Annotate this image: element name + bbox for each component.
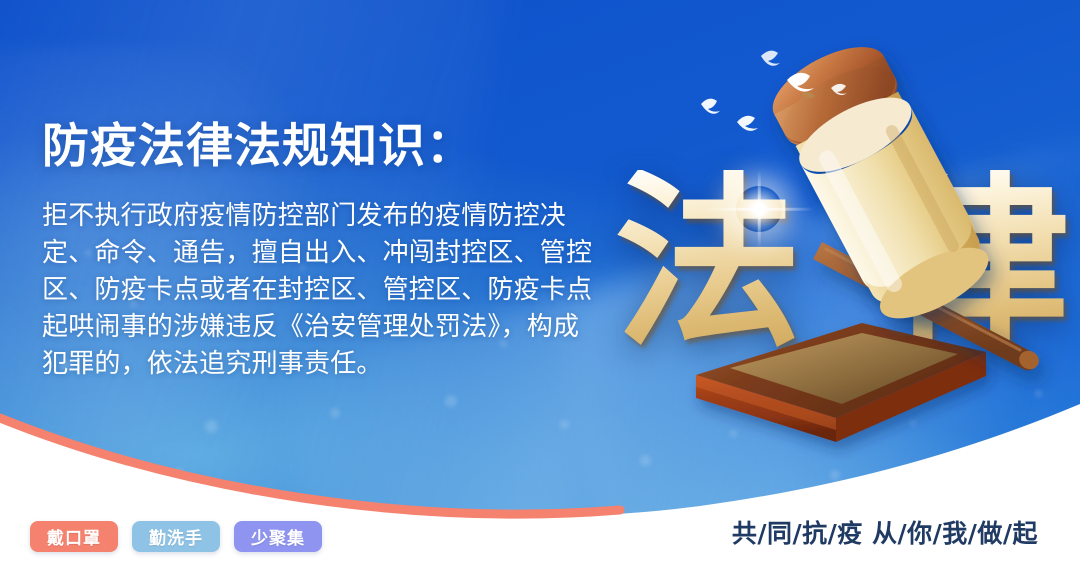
prevention-tag-list: 戴口罩 勤洗手 少聚集 [30, 521, 322, 552]
page-title: 防疫法律法规知识： [42, 122, 474, 172]
tag-wear-mask[interactable]: 戴口罩 [30, 521, 118, 552]
footer-slogan: 共/同/抗/疫 从/你/我/做/起 [732, 514, 1038, 550]
tag-wash-hands[interactable]: 勤洗手 [132, 521, 220, 552]
body-paragraph: 拒不执行政府疫情防控部门发布的疫情防控决定、命令、通告，擅自出入、冲闯封控区、管… [42, 198, 598, 383]
wave-divider [0, 374, 1080, 584]
tag-avoid-gathering[interactable]: 少聚集 [234, 521, 322, 552]
poster-canvas: 法 律 [0, 0, 1080, 584]
dove-icon-group [695, 48, 895, 148]
